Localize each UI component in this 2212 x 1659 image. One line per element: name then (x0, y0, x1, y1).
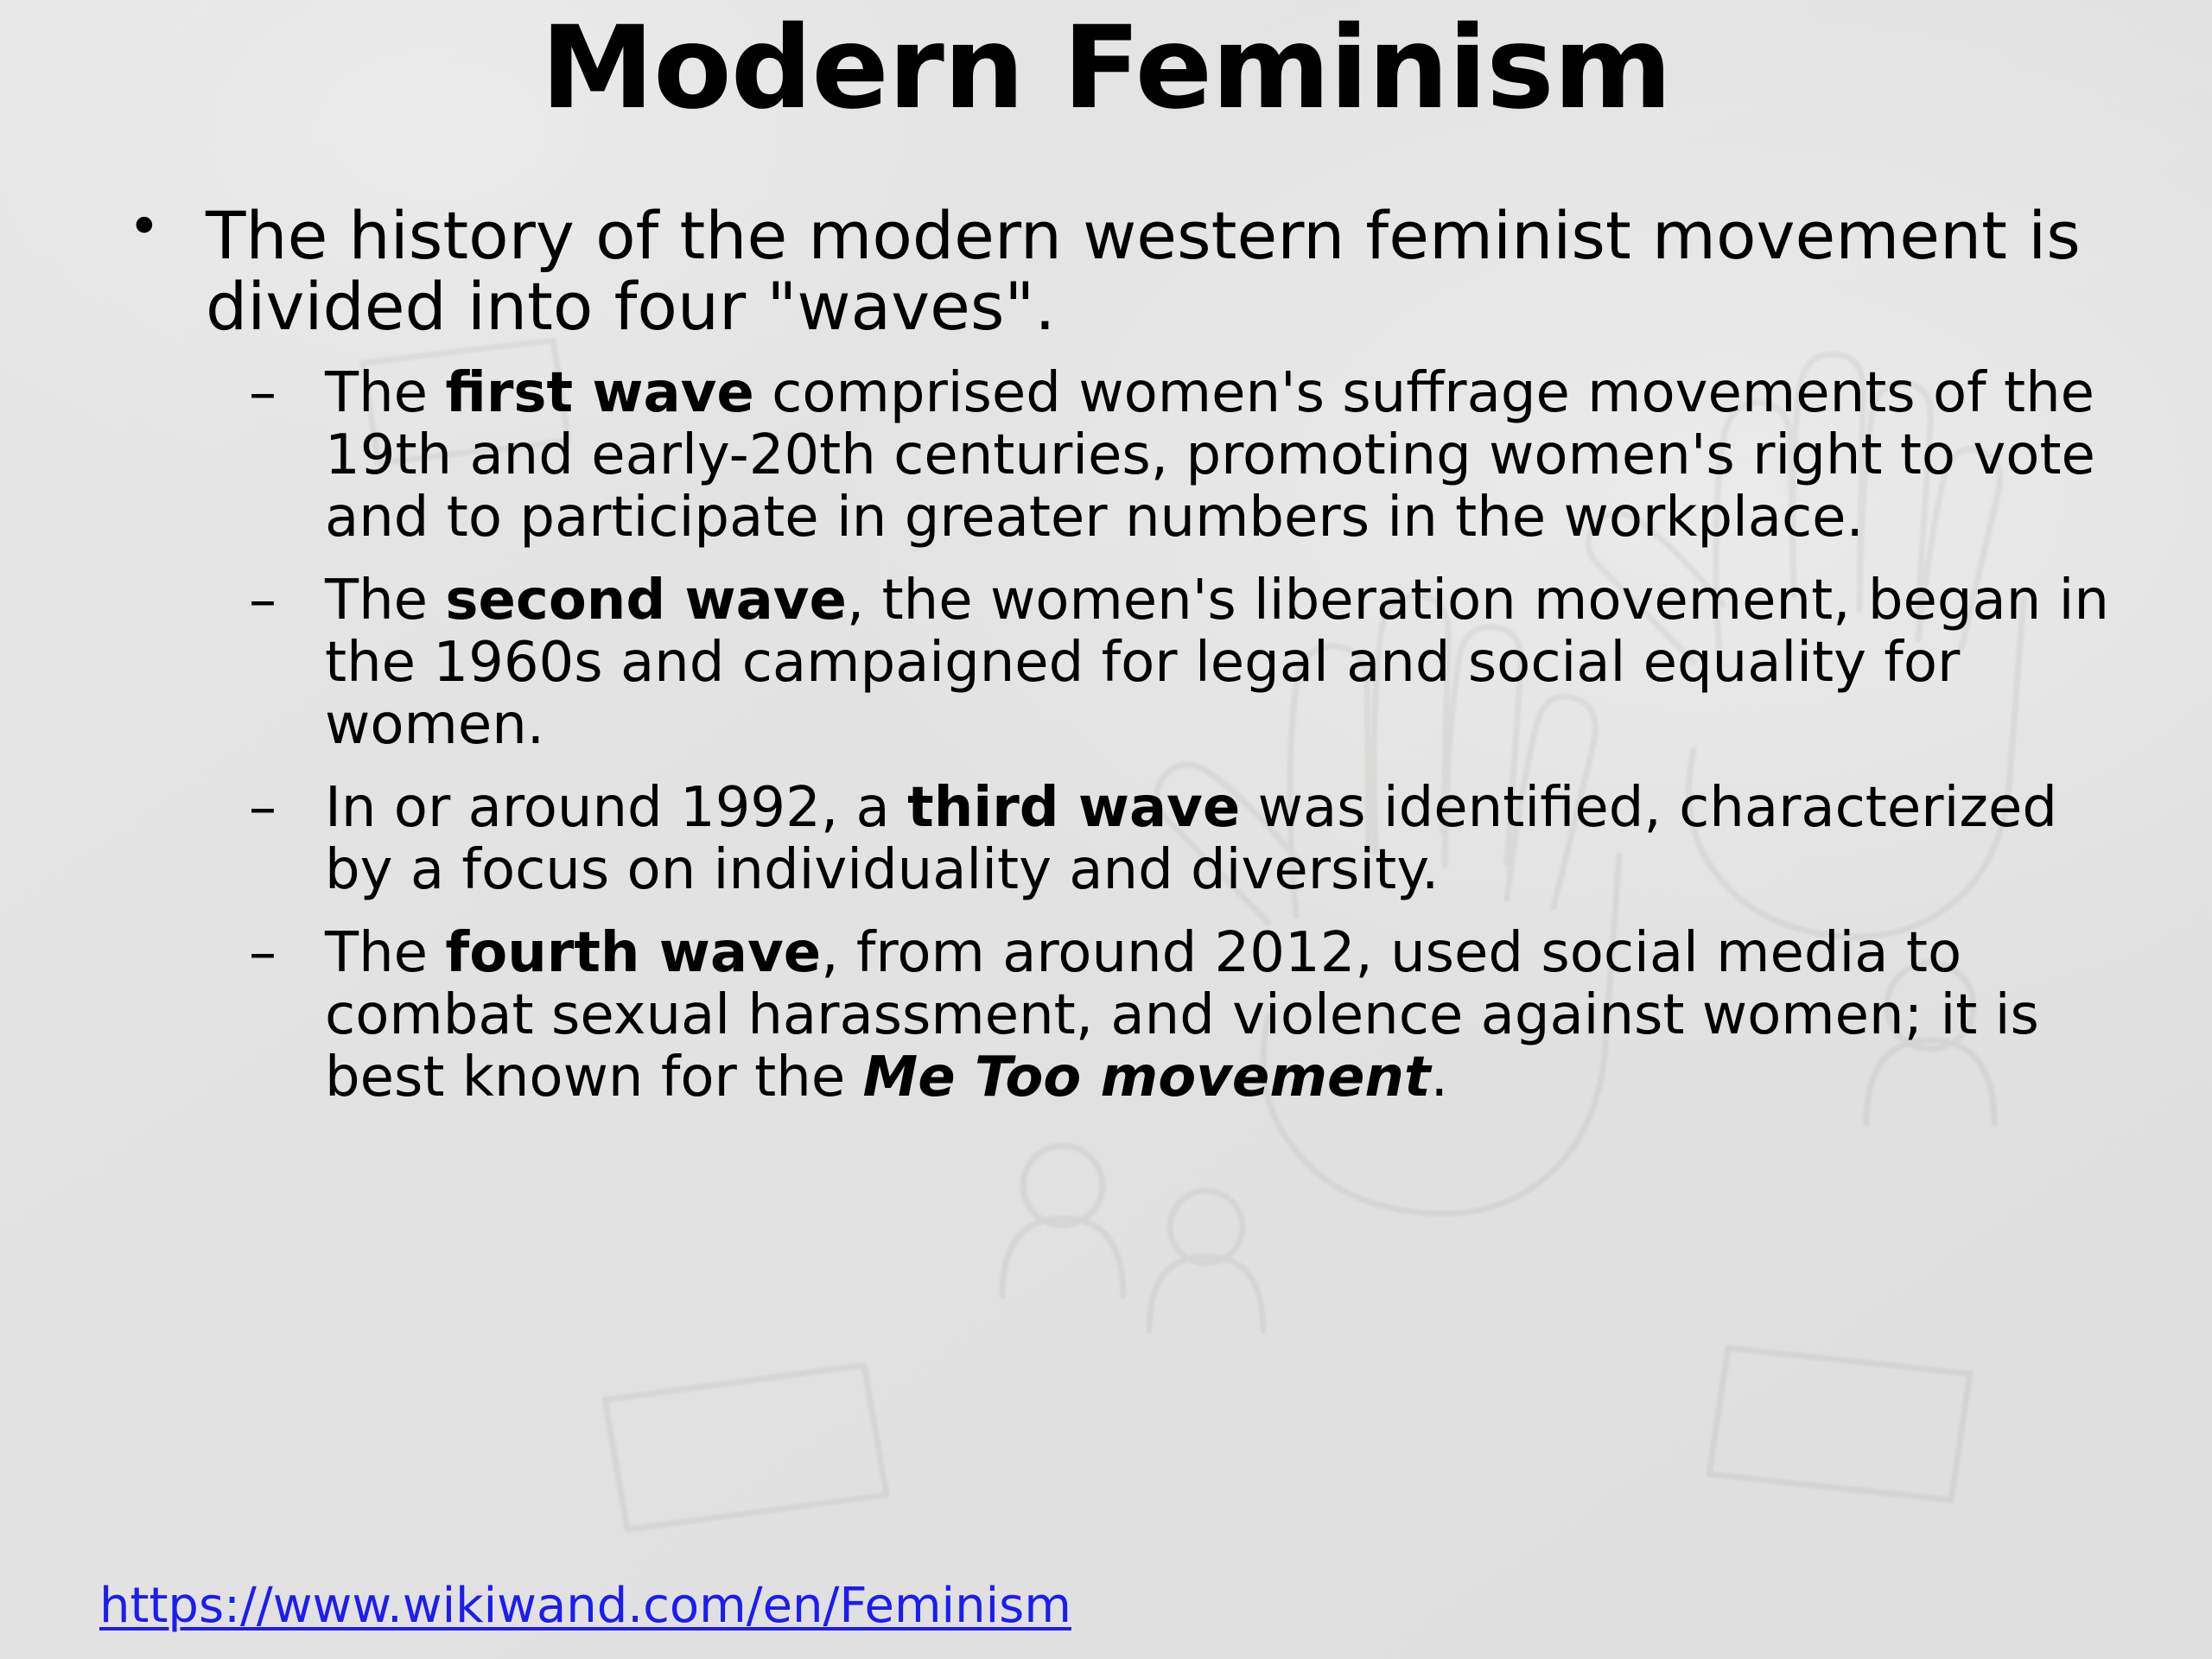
source-hyperlink[interactable]: https://www.wikiwand.com/en/Feminism (99, 1579, 1071, 1634)
sub-bullet-keyword: fourth wave (445, 921, 821, 985)
sub-bullet-keyword: third wave (907, 776, 1240, 840)
presentation-slide: Modern Feminism • The history of the mod… (0, 0, 2212, 1659)
main-bullet-item: • The history of the modern western femi… (104, 200, 2117, 343)
slide-title: Modern Feminism (0, 7, 2212, 130)
sub-bullet-emphasis: Me Too movement (863, 1046, 1431, 1109)
bullet-dash-icon: – (249, 777, 276, 839)
bullet-dash-icon: – (249, 922, 276, 984)
bullet-dot-icon: • (128, 197, 161, 257)
sub-bullet-list: – The first wave comprised women's suffr… (232, 362, 2117, 1109)
sub-bullet-keyword: first wave (445, 361, 753, 425)
sub-bullet-item-first-wave: – The first wave comprised women's suffr… (232, 362, 2117, 549)
slide-body: • The history of the modern western femi… (104, 200, 2117, 1109)
sub-bullet-keyword: second wave (445, 569, 847, 632)
sub-bullet-item-fourth-wave: – The fourth wave, from around 2012, use… (232, 922, 2117, 1109)
sub-bullet-tail: . (1431, 1046, 1448, 1109)
sub-bullet-item-second-wave: – The second wave, the women's liberatio… (232, 569, 2117, 756)
sub-bullet-lead: The (325, 569, 445, 632)
sub-bullet-item-third-wave: – In or around 1992, a third wave was id… (232, 777, 2117, 901)
bullet-dash-icon: – (249, 569, 276, 632)
sub-bullet-lead: The (325, 361, 445, 425)
bullet-dash-icon: – (249, 362, 276, 424)
sub-bullet-lead: The (325, 921, 445, 985)
main-bullet-text: The history of the modern western femini… (206, 197, 2081, 345)
sub-bullet-lead: In or around 1992, a (325, 776, 907, 840)
